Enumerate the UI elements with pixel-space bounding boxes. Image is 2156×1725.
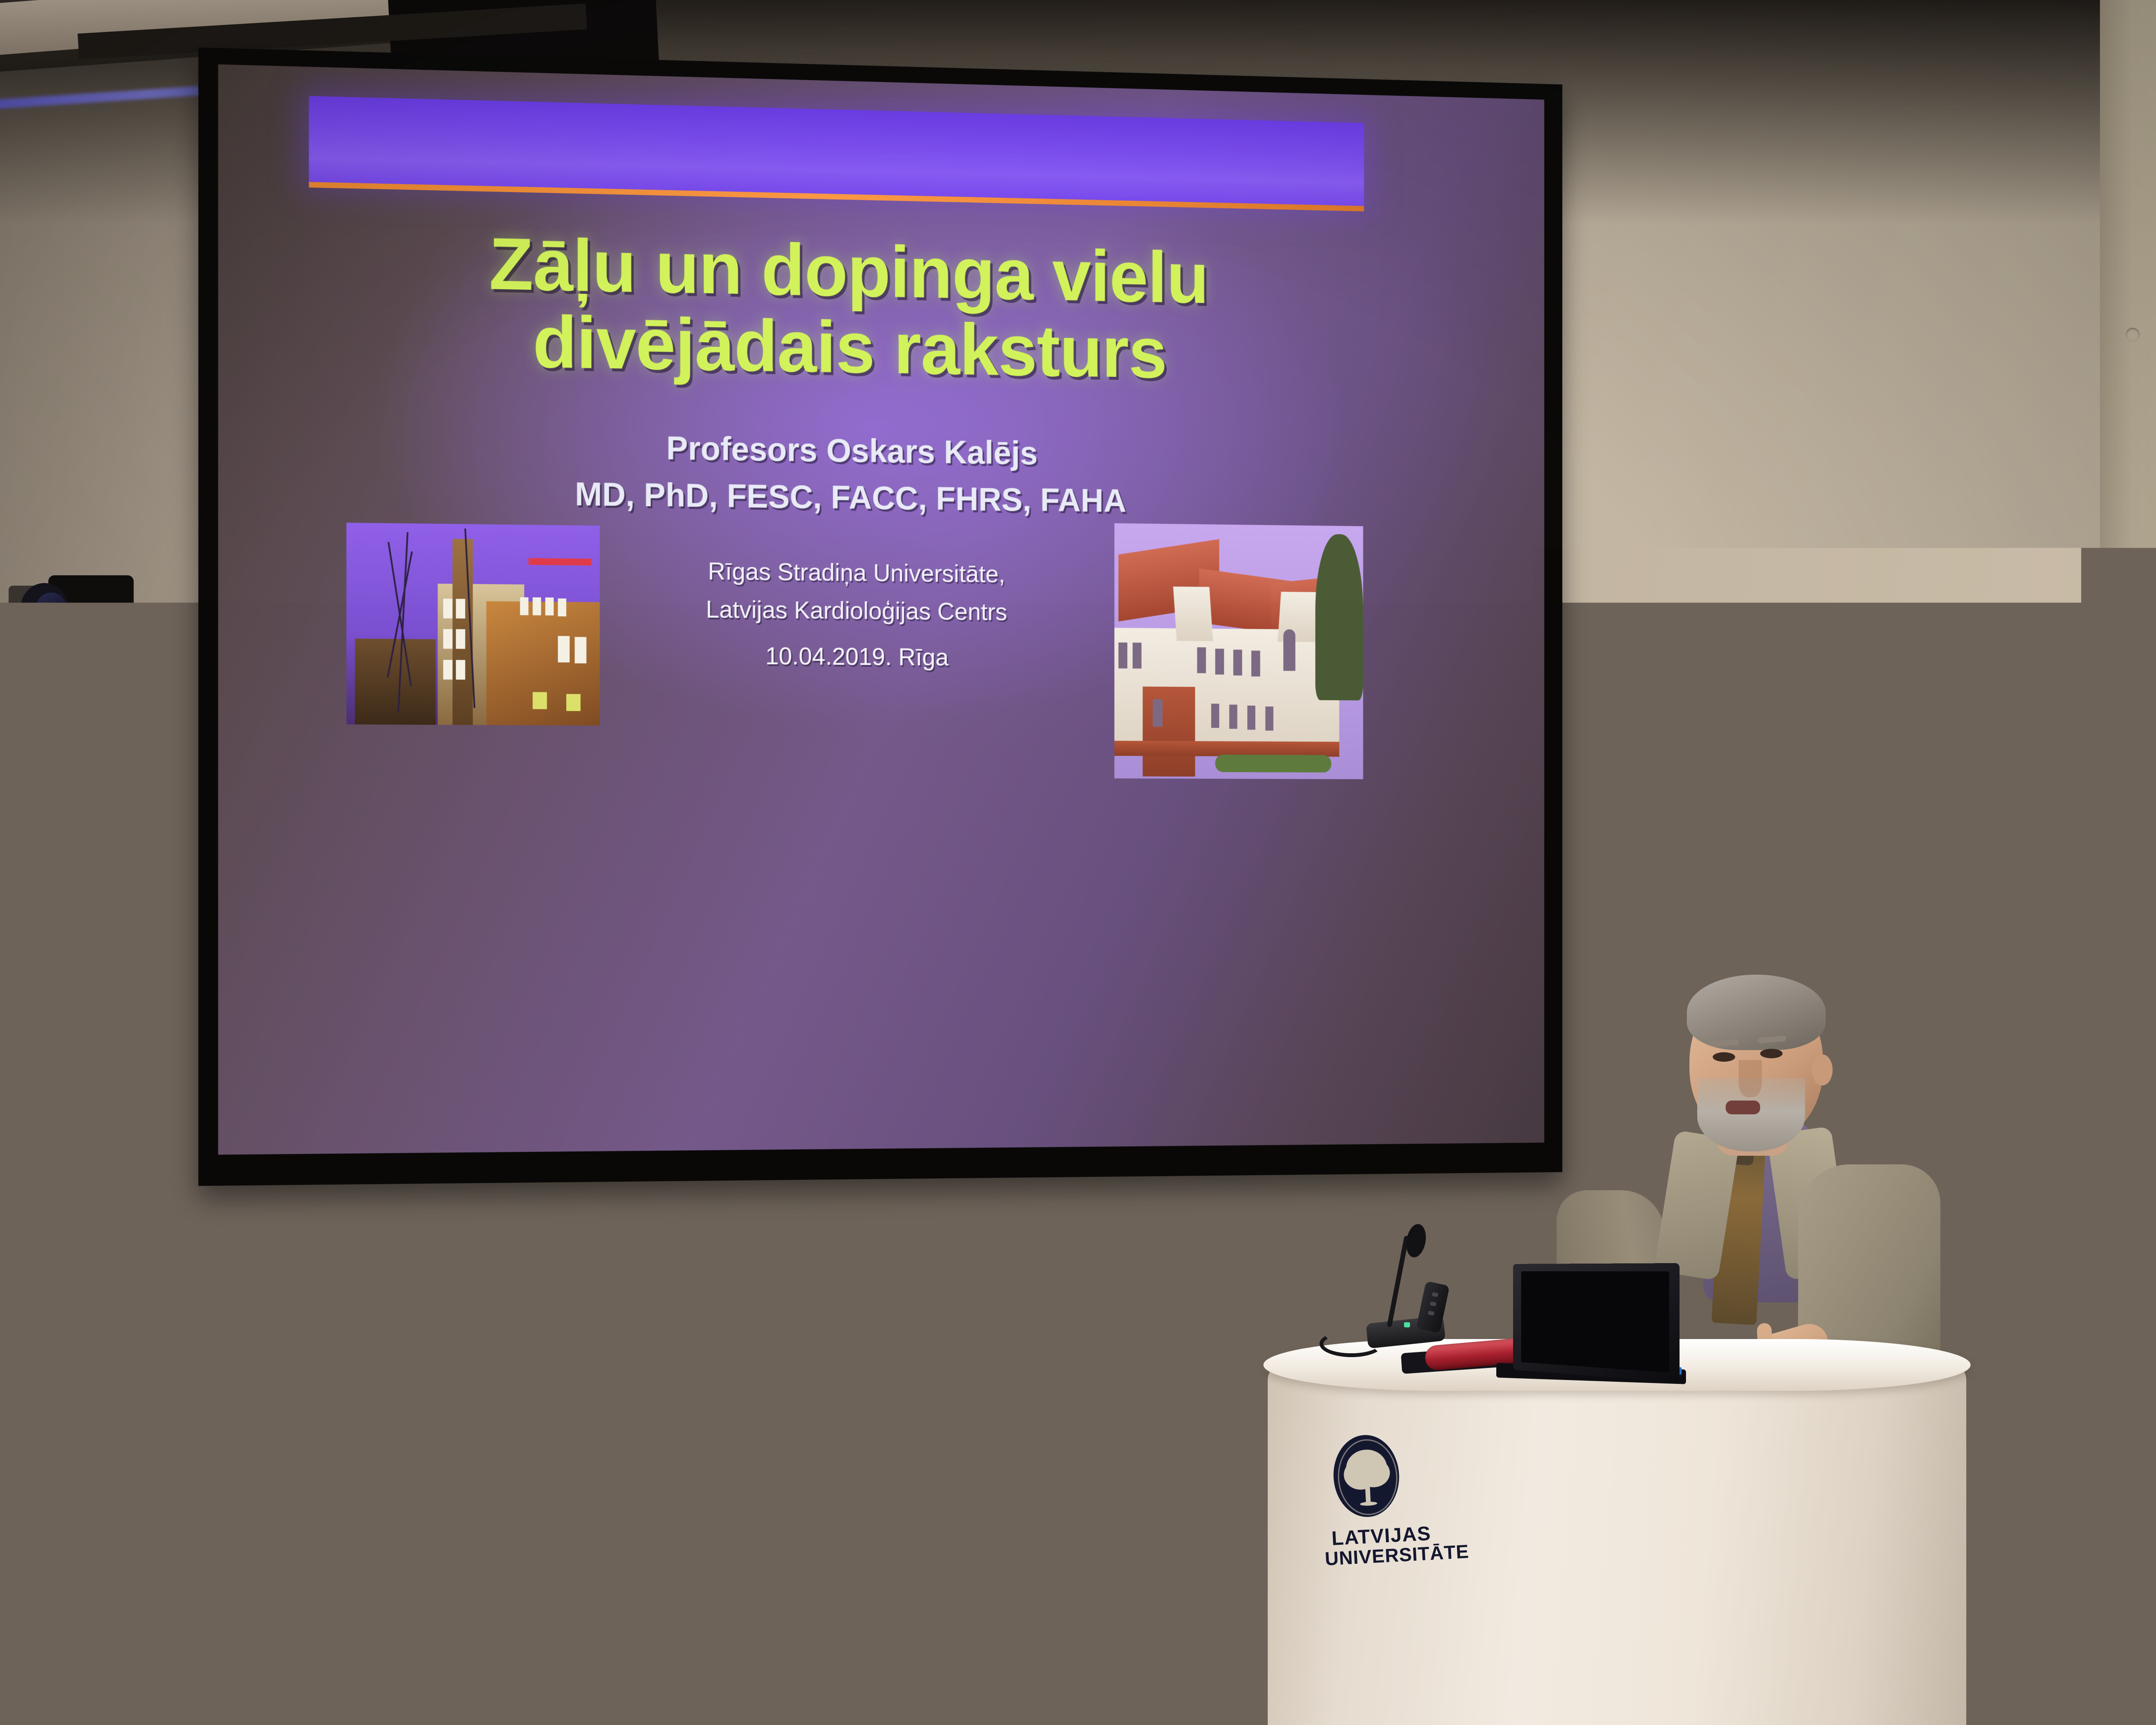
presenter-eye-right — [1760, 1049, 1783, 1058]
lecture-hall-scene: Zāļu un dopinga vielu divējādais rakstur… — [0, 0, 2156, 1725]
slide-author-block: Profesors Oskars Kalējs MD, PhD, FESC, F… — [282, 419, 1403, 527]
photo-building-sign — [529, 558, 592, 565]
presenter-mouth — [1726, 1101, 1760, 1114]
slide-title: Zāļu un dopinga vielu divējādais rakstur… — [282, 221, 1403, 395]
laptop-display-glass — [1521, 1271, 1669, 1373]
water-bottle-cap — [1680, 1239, 1713, 1258]
ptz-camera — [9, 574, 134, 664]
affiliation-line-2: Latvijas Kardioloģijas Centrs — [625, 590, 1086, 631]
camera-lens — [21, 583, 68, 633]
laptop-screen[interactable] — [1513, 1263, 1680, 1383]
camera-lens-glass — [36, 593, 66, 623]
slide-photo-rsu-building — [346, 523, 600, 726]
camera-status-led — [18, 645, 22, 649]
affiliation-line-1: Rīgas Stradiņa Universitāte, — [625, 552, 1086, 594]
slide-affiliation: Rīgas Stradiņa Universitāte, Latvijas Ka… — [625, 552, 1086, 632]
lectern-university-logo: LATVIJAS UNIVERSITĀTE — [1313, 1430, 1463, 1593]
presenter-nose — [1739, 1060, 1762, 1097]
concrete-pillar — [2100, 0, 2156, 1725]
projection-screen-frame: Zāļu un dopinga vielu divējādais rakstur… — [198, 47, 1562, 1186]
slide-photo-cardiology-centre — [1114, 523, 1363, 779]
photo-building-far — [355, 639, 436, 725]
presenter-hair — [1687, 975, 1826, 1050]
microphone-status-led — [1404, 1322, 1410, 1327]
water-bottle — [1673, 1253, 1721, 1384]
water-bottle-brand: everest — [1673, 1337, 1720, 1347]
camera-label-strip — [11, 643, 46, 650]
presenter-eye-left — [1713, 1052, 1735, 1062]
presenter-ear — [1812, 1054, 1833, 1085]
presentation-slide: Zāļu un dopinga vielu divējādais rakstur… — [218, 64, 1544, 1154]
pillar-form-tie-hole — [2126, 328, 2140, 342]
slide-date-place: 10.04.2019. Rīga — [625, 641, 1086, 672]
